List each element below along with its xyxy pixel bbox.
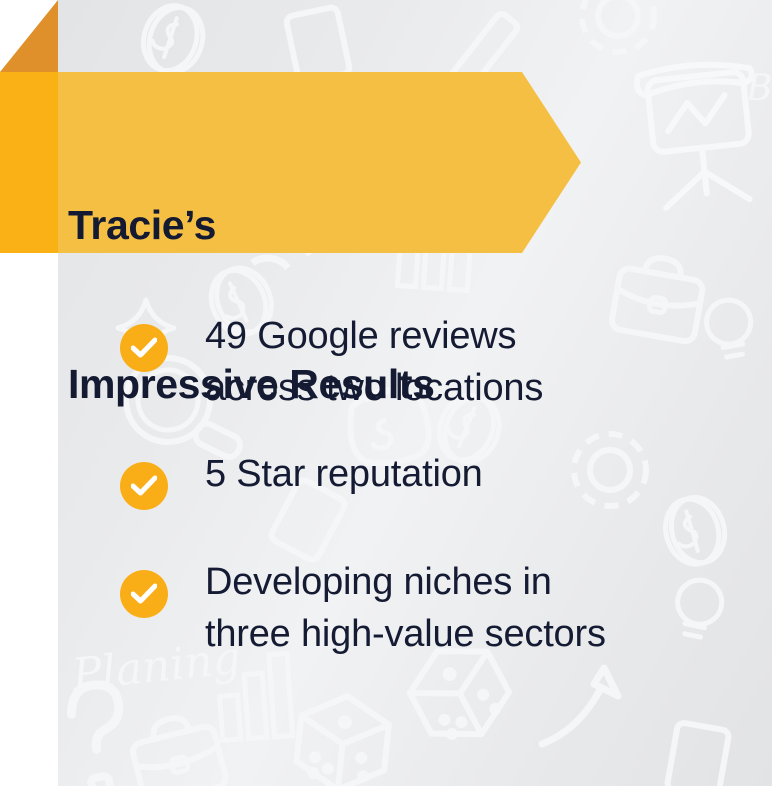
check-circle-icon: [120, 324, 168, 372]
ribbon-fold-corner: [0, 0, 58, 72]
list-item: 49 Google reviews across two locations: [120, 310, 760, 414]
title-line-1: Tracie’s: [68, 199, 435, 252]
list-item: 5 Star reputation: [120, 448, 760, 510]
ribbon-left-strip: [0, 72, 59, 253]
list-item-label: Developing niches in three high-value se…: [205, 556, 606, 660]
check-circle-icon: [120, 462, 168, 510]
list-item: Developing niches in three high-value se…: [120, 556, 760, 660]
slide-root: Business Planing: [0, 0, 772, 786]
results-list: 49 Google reviews across two locations 5…: [120, 310, 760, 682]
list-item-label: 49 Google reviews across two locations: [205, 310, 543, 414]
list-item-label: 5 Star reputation: [205, 448, 483, 500]
svg-text:Business: Business: [745, 68, 772, 109]
check-circle-icon: [120, 570, 168, 618]
